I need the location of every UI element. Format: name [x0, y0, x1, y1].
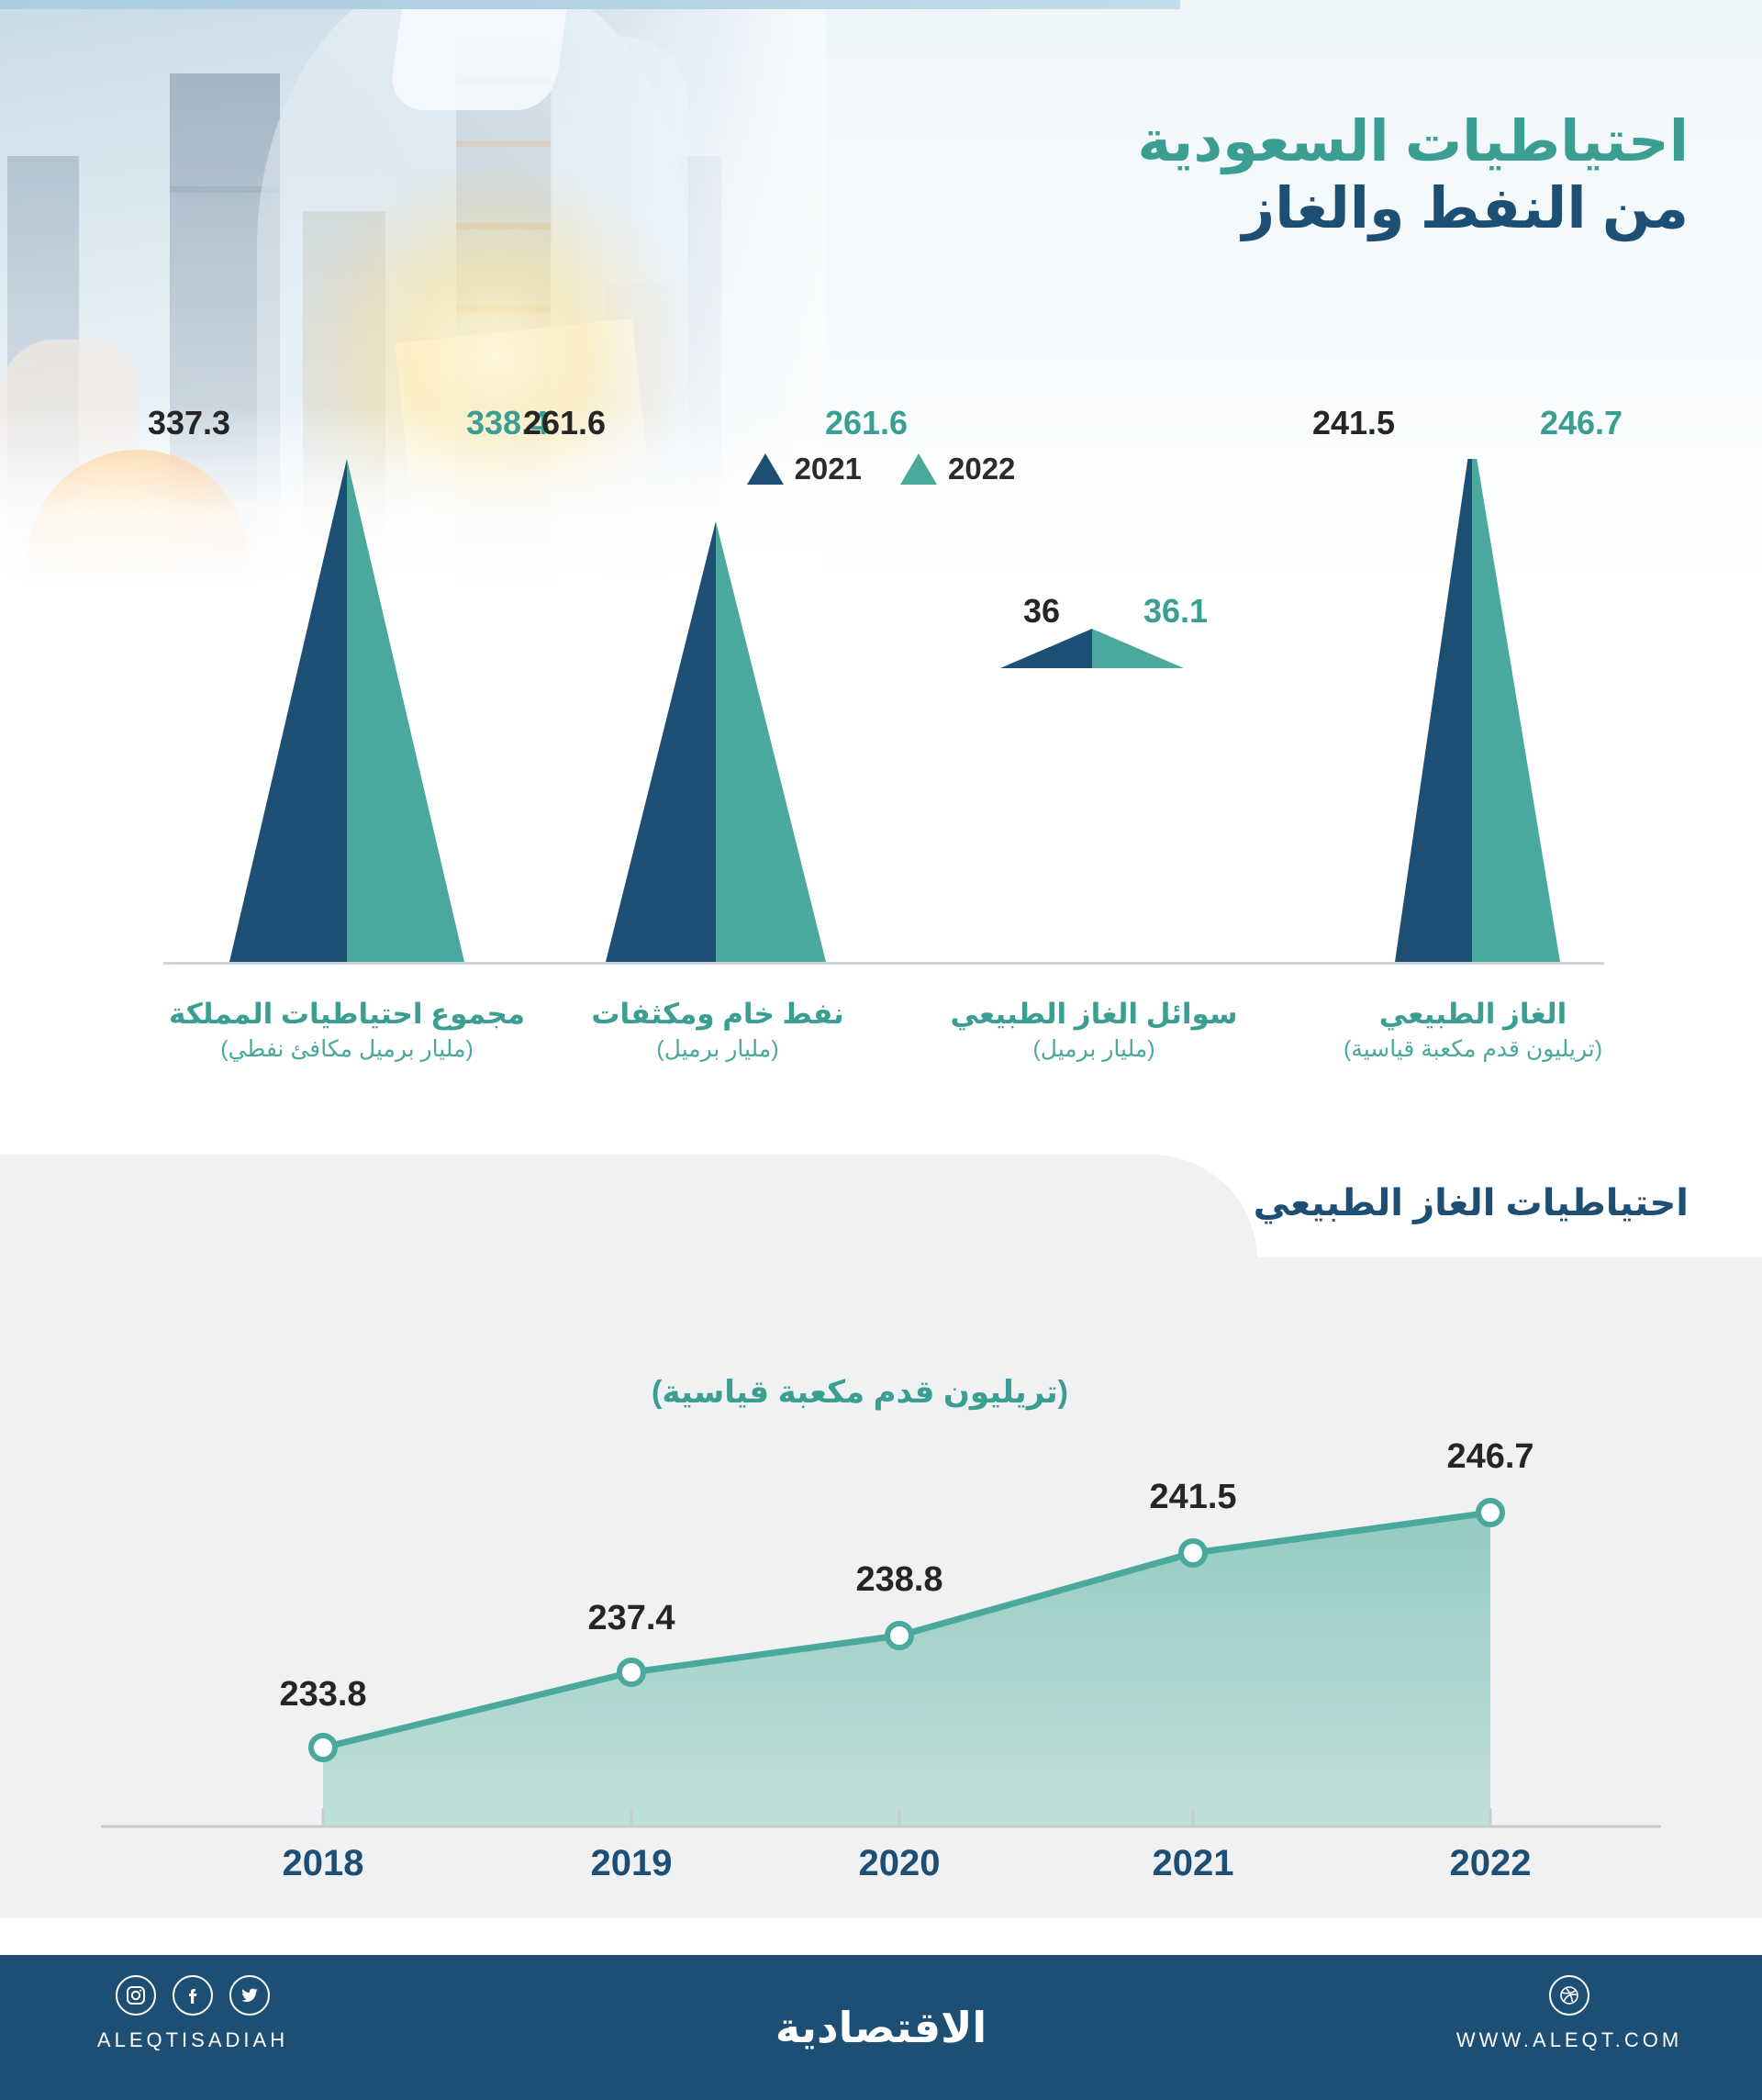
panel-title: احتياطيات الغاز الطبيعي — [1254, 1182, 1689, 1224]
category-name: نفط خام ومكثفات — [591, 996, 843, 1033]
cone-2021-total — [229, 459, 347, 962]
category-natural-gas: الغاز الطبيعي (تريليون قدم مكعبة قياسية) — [1344, 996, 1602, 1067]
triangle-teal-icon — [900, 453, 937, 485]
title-line-2: من النفط والغاز — [1137, 175, 1689, 242]
data-point-2020 — [887, 1624, 911, 1648]
cone-2022-crude — [716, 521, 826, 962]
cone-bar-chart-svg — [0, 459, 1762, 973]
category-total: مجموع احتياطيات المملكة (مليار برميل مكا… — [169, 996, 525, 1067]
data-point-2019 — [619, 1660, 643, 1684]
panel-notch — [0, 1155, 1257, 1260]
page-title: احتياطيات السعودية من النفط والغاز — [1137, 108, 1689, 242]
footer-right: WWW.ALEQT.COM — [1377, 1975, 1762, 2052]
dribbble-icon[interactable] — [1549, 1975, 1589, 2016]
cone-2022-total — [347, 459, 464, 962]
legend-label-2022: 2022 — [948, 452, 1015, 486]
infographic-page: احتياطيات السعودية من النفط والغاز 2021 … — [0, 0, 1762, 2100]
title-line-1: احتياطيات السعودية — [1137, 108, 1689, 175]
cone-chart-axis — [163, 962, 1604, 965]
category-crude: نفط خام ومكثفات (مليار برميل) — [591, 996, 843, 1067]
cone-2022-ngl — [1092, 629, 1184, 668]
cone-2021-crude — [606, 521, 716, 962]
legend-item-2021: 2021 — [747, 452, 862, 486]
top-accent-bar — [0, 0, 1180, 9]
category-name: سوائل الغاز الطبيعي — [951, 996, 1238, 1033]
footer-bar: ALEQTISADIAH الاقتصادية WWW.ALEQT.COM — [0, 1955, 1762, 2100]
category-name: مجموع احتياطيات المملكة — [169, 996, 525, 1033]
area-chart-svg — [0, 1257, 1762, 1918]
area-fill — [323, 1513, 1490, 1826]
legend-item-2022: 2022 — [900, 452, 1015, 486]
category-unit: (مليار برميل) — [951, 1033, 1238, 1066]
cone-bar-chart — [0, 459, 1762, 973]
data-point-2021 — [1181, 1541, 1205, 1565]
legend-label-2021: 2021 — [795, 452, 862, 486]
engineer-collar — [387, 9, 566, 110]
cone-2021-ngl — [1000, 629, 1092, 668]
data-point-2018 — [311, 1736, 335, 1759]
category-unit: (مليار برميل مكافئ نفطي) — [169, 1033, 525, 1066]
category-unit: (مليار برميل) — [591, 1033, 843, 1066]
cone-category-labels: مجموع احتياطيات المملكة (مليار برميل مكا… — [0, 996, 1762, 1115]
cone-2021-gas — [1395, 459, 1472, 962]
footer-url: WWW.ALEQT.COM — [1377, 2028, 1762, 2052]
category-name: الغاز الطبيعي — [1344, 996, 1602, 1033]
triangle-navy-icon — [747, 453, 784, 485]
chart-legend: 2021 2022 — [0, 452, 1762, 486]
cone-2022-gas — [1472, 459, 1560, 962]
category-ngl: سوائل الغاز الطبيعي (مليار برميل) — [951, 996, 1238, 1067]
data-point-2022 — [1478, 1501, 1502, 1525]
panel-subtitle: (تريليون قدم مكعبة قياسية) — [652, 1374, 1068, 1411]
category-unit: (تريليون قدم مكعبة قياسية) — [1344, 1033, 1602, 1066]
natural-gas-area-chart — [0, 1257, 1762, 1918]
